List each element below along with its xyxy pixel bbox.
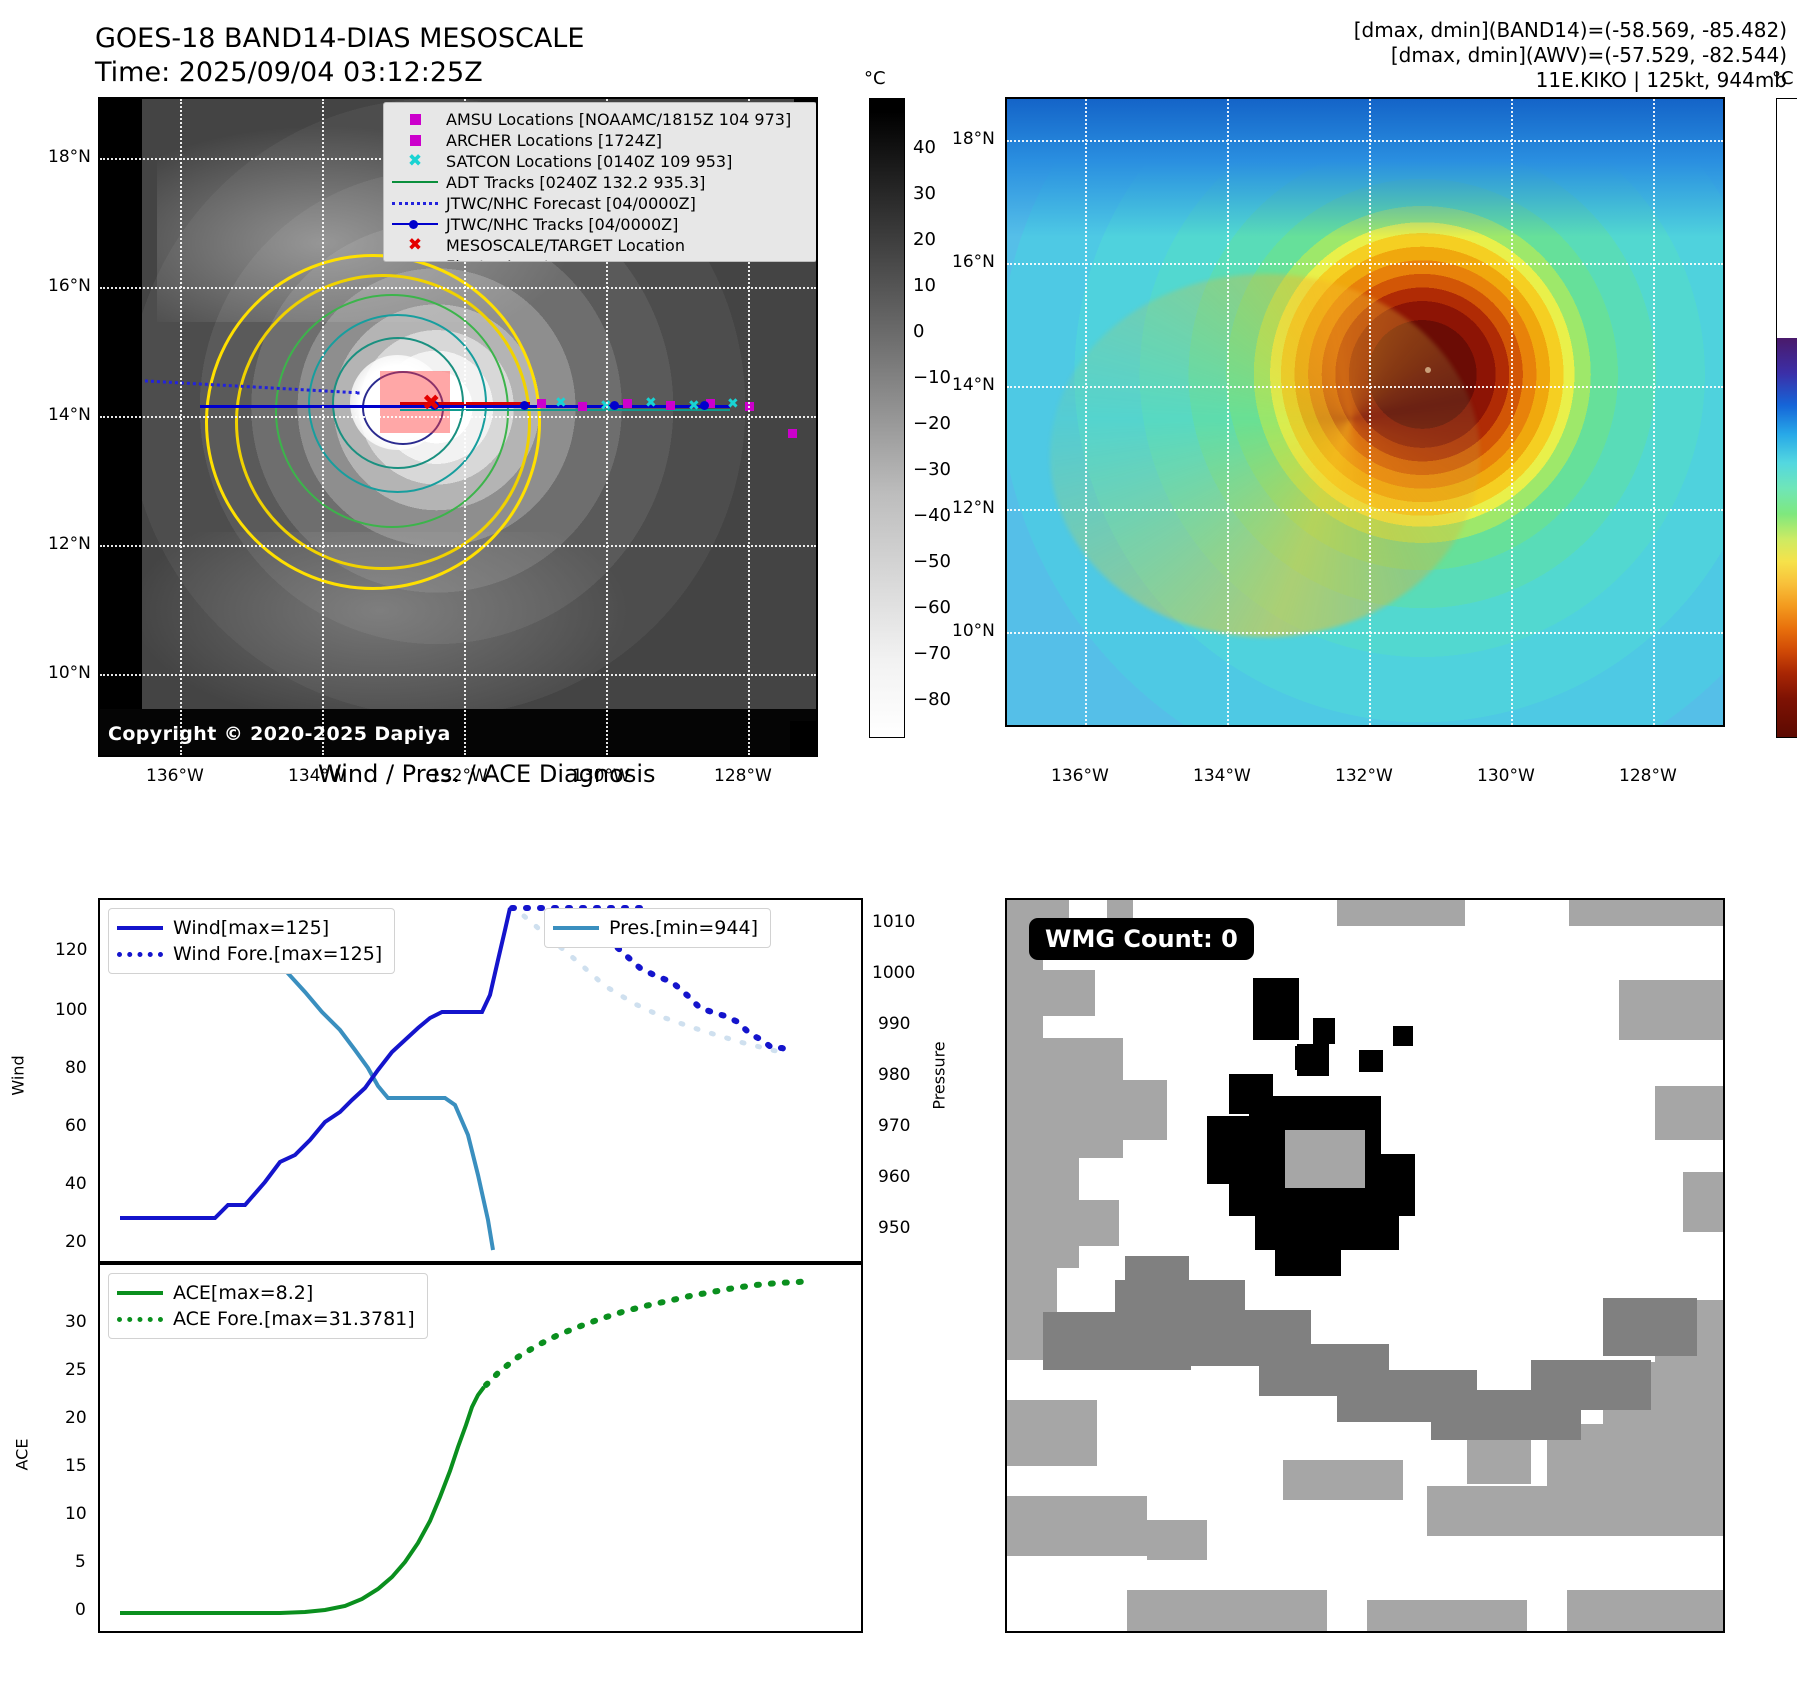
latitude-gridline <box>1007 140 1723 142</box>
amsu-location-outlier-marker <box>788 429 797 438</box>
latitude-gridline <box>1007 632 1723 634</box>
amsu-location-marker <box>623 399 632 408</box>
panel1-colorbar-tick: 10 <box>913 275 936 296</box>
wmg-grey-region <box>1007 948 1043 1038</box>
legend-label: AMSU Locations [NOAAMC/1815Z 104 973] <box>446 110 791 129</box>
longitude-gridline <box>1369 99 1371 725</box>
wind-ytick: 120 <box>55 940 87 960</box>
satcon-location-marker: ✖ <box>688 401 699 412</box>
wmg-grey-region <box>1043 970 1095 1016</box>
panel1-colorbar-tick: −50 <box>913 551 951 572</box>
jtwc-track-point <box>610 401 619 410</box>
ace-ytick: 5 <box>75 1552 86 1572</box>
jtwc-track-point <box>520 401 529 410</box>
legend-item-jtwc-forecast: JTWC/NHC Forecast [04/0000Z] <box>384 193 816 213</box>
map-edge-mask-bottomright <box>790 721 816 755</box>
panel2-xtick-132W: 132°W <box>1335 766 1393 786</box>
wind-ytick: 80 <box>65 1058 87 1078</box>
panel2-header-line2: [dmax, dmin](AWV)=(-57.529, -82.544) <box>1391 43 1787 67</box>
panel1-ytick-16N: 16°N <box>48 276 91 296</box>
legend-item-satcon: ✖ SATCON Locations [0140Z 109 953] <box>384 151 816 171</box>
panel1-colorbar-title: °C <box>864 68 886 89</box>
ace-chart[interactable]: ACE[max=8.2] ACE Fore.[max=31.3781] <box>98 1263 863 1633</box>
wind-pressure-chart[interactable]: Wind[max=125] Wind Fore.[max=125] Pres.[… <box>98 898 863 1263</box>
longitude-gridline <box>180 99 182 755</box>
red-x-icon: ✖ <box>384 240 446 251</box>
panel2-header-line1: [dmax, dmin](BAND14)=(-58.569, -85.482) <box>1354 18 1787 42</box>
wmg-black-region <box>1313 1018 1335 1044</box>
wmg-dark-grey-region <box>1531 1360 1651 1410</box>
latitude-gridline <box>100 545 816 547</box>
legend-item-wind: Wind[max=125] <box>117 915 382 941</box>
legend-label: SATCON Locations [0140Z 109 953] <box>446 152 732 171</box>
legend-label: JTWC/NHC Forecast [04/0000Z] <box>446 194 696 213</box>
panel2-colorbar-title: °C <box>1772 68 1794 89</box>
amsu-location-marker <box>537 399 546 408</box>
panel1-colorbar-tick: 20 <box>913 229 936 250</box>
mesoscale-target-marker: ✖ <box>422 391 440 416</box>
legend-item-archer: ARCHER Locations [1724Z] <box>384 130 816 150</box>
panel3-title: Wind / Pres. / ACE Diagnosis <box>318 760 656 788</box>
panel1-colorbar-tick: −20 <box>913 413 951 434</box>
wmg-grey-region <box>1007 1158 1079 1268</box>
wmg-black-region <box>1253 978 1299 1040</box>
wmg-grey-region <box>1683 1172 1723 1232</box>
cold-top-overlay <box>1007 99 1723 237</box>
wmg-grey-region <box>1007 1038 1123 1158</box>
copyright-notice: Copyright © 2020-2025 Dapiya <box>108 723 451 745</box>
blue-line-dot-icon <box>384 223 446 225</box>
panel2-header: [dmax, dmin](BAND14)=(-58.569, -85.482) … <box>1354 18 1787 93</box>
wind-ytick: 20 <box>65 1232 87 1252</box>
panel1-colorbar-tick: −70 <box>913 643 951 664</box>
longitude-gridline <box>1227 99 1229 725</box>
jtwc-track-point <box>700 401 709 410</box>
wmg-grey-region <box>1337 900 1465 926</box>
panel2-xtick-128W: 128°W <box>1619 766 1677 786</box>
panel2-ytick-18N: 18°N <box>952 129 995 149</box>
panel2-ytick-14N: 14°N <box>952 375 995 395</box>
ace-legend[interactable]: ACE[max=8.2] ACE Fore.[max=31.3781] <box>108 1273 428 1339</box>
wmg-grey-region <box>1569 900 1723 926</box>
longitude-gridline <box>322 99 324 755</box>
pressure-ytick: 950 <box>878 1218 910 1238</box>
pressure-ytick: 1010 <box>872 912 915 932</box>
panel2-xtick-130W: 130°W <box>1477 766 1535 786</box>
wmg-grey-region <box>1655 1086 1723 1140</box>
panel2-ytick-10N: 10°N <box>952 621 995 641</box>
panel1-ytick-14N: 14°N <box>48 405 91 425</box>
ace-ytick: 10 <box>65 1504 87 1524</box>
latitude-gridline <box>1007 386 1723 388</box>
eye-center-dot <box>1425 367 1431 373</box>
legend-label: JTWC/NHC Tracks [04/0000Z] <box>446 215 678 234</box>
panel1-xtick-136W: 136°W <box>146 766 204 786</box>
enhanced-ir-awv-map[interactable] <box>1005 97 1725 727</box>
legend-item-floater-locater: Floater Locater <box>384 256 816 262</box>
panel1-colorbar-gradient <box>869 98 905 738</box>
spiral-band-overlay <box>1050 274 1480 637</box>
panel1-colorbar-tick: −80 <box>913 689 951 710</box>
green-dotted-line-icon <box>117 1317 173 1322</box>
cyan-x-icon: ✖ <box>384 156 446 167</box>
wmg-black-region <box>1359 1050 1383 1072</box>
wmg-dark-grey-region <box>1125 1256 1189 1290</box>
blue-line-icon <box>117 926 173 930</box>
goes-band14-map[interactable]: ✖ ✖ ✖ ✖ ✖ ✖ AMSU Locations [NOAAMC/1815Z… <box>98 97 818 757</box>
panel2-ytick-12N: 12°N <box>952 498 995 518</box>
wmg-black-region <box>1275 1238 1341 1276</box>
longitude-gridline <box>1653 99 1655 725</box>
longitude-gridline <box>1085 99 1087 725</box>
legend-label: ARCHER Locations [1724Z] <box>446 131 662 150</box>
wind-legend[interactable]: Wind[max=125] Wind Fore.[max=125] <box>108 908 395 974</box>
panel2-ytick-16N: 16°N <box>952 252 995 272</box>
panel1-ytick-18N: 18°N <box>48 147 91 167</box>
panel1-colorbar-tick: −40 <box>913 505 951 526</box>
legend-item-ace: ACE[max=8.2] <box>117 1280 415 1306</box>
panel1-colorbar-tick: −10 <box>913 367 951 388</box>
map-edge-mask-left <box>100 99 142 755</box>
latitude-gridline <box>100 287 816 289</box>
wmg-grey-region <box>1427 1486 1723 1536</box>
legend-item-jtwc-tracks: JTWC/NHC Tracks [04/0000Z] <box>384 214 816 234</box>
ace-series-line <box>120 1387 484 1613</box>
wmg-mask-panel[interactable]: WMG Count: 0 <box>1005 898 1725 1633</box>
archer-location-marker <box>578 402 587 411</box>
satcon-location-marker: ✖ <box>727 399 738 410</box>
pressure-legend[interactable]: Pres.[min=944] <box>544 908 771 948</box>
panel1-colorbar-tick: 0 <box>913 321 924 342</box>
wmg-grey-region <box>1367 1600 1527 1631</box>
wmg-dark-grey-region <box>1603 1298 1697 1356</box>
wmg-grey-region <box>1283 1460 1403 1500</box>
wmg-grey-region <box>1007 1400 1097 1466</box>
legend-item-adt-tracks: ADT Tracks [0240Z 132.2 935.3] <box>384 172 816 192</box>
wmg-count-badge: WMG Count: 0 <box>1029 918 1254 960</box>
legend-label: MESOSCALE/TARGET Location <box>446 236 685 255</box>
magenta-square-icon <box>384 135 446 146</box>
pressure-ytick: 960 <box>878 1167 910 1187</box>
latitude-gridline <box>1007 263 1723 265</box>
legend-label: Wind[max=125] <box>173 917 329 939</box>
wmg-black-region <box>1297 1044 1329 1076</box>
panel1-xtick-128W: 128°W <box>714 766 772 786</box>
panel1-title-line2: Time: 2025/09/04 03:12:25Z <box>95 57 483 88</box>
wmg-grey-region <box>1079 1200 1119 1246</box>
pressure-ytick: 1000 <box>872 963 915 983</box>
wind-ytick: 100 <box>55 1000 87 1020</box>
blue-dotted-line-icon <box>117 952 173 957</box>
legend-label: ACE[max=8.2] <box>173 1282 313 1304</box>
wind-ytick: 60 <box>65 1116 87 1136</box>
legend-item-wind-forecast: Wind Fore.[max=125] <box>117 941 382 967</box>
panel1-ytick-10N: 10°N <box>48 663 91 683</box>
panel1-title: GOES-18 BAND14-DIAS MESOSCALE Time: 2025… <box>95 22 584 90</box>
wmg-grey-region <box>1567 1590 1723 1631</box>
legend-item-amsu: AMSU Locations [NOAAMC/1815Z 104 973] <box>384 109 816 129</box>
longitude-gridline <box>1511 99 1513 725</box>
green-line-icon <box>117 1291 173 1295</box>
satcon-location-marker: ✖ <box>555 398 566 409</box>
pressure-ytick: 980 <box>878 1065 910 1085</box>
ace-ytick: 0 <box>75 1600 86 1620</box>
wmg-grey-region <box>1147 1520 1207 1560</box>
ace-ytick: 25 <box>65 1360 87 1380</box>
ace-ytick: 30 <box>65 1312 87 1332</box>
ace-ytick: 15 <box>65 1456 87 1476</box>
legend-item-ace-forecast: ACE Fore.[max=31.3781] <box>117 1306 415 1332</box>
wind-axis-label: Wind <box>9 1055 28 1095</box>
latitude-gridline <box>100 674 816 676</box>
legend-item-mesoscale-target: ✖ MESOSCALE/TARGET Location <box>384 235 816 255</box>
ace-ytick: 20 <box>65 1408 87 1428</box>
green-line-icon <box>384 181 446 183</box>
panel2-xtick-136W: 136°W <box>1051 766 1109 786</box>
wmg-grey-region <box>1007 1496 1147 1556</box>
magenta-square-icon <box>384 114 446 125</box>
panel2-header-line3: 11E.KIKO | 125kt, 944mb <box>1536 68 1787 92</box>
panel1-title-line1: GOES-18 BAND14-DIAS MESOSCALE <box>95 23 584 54</box>
satcon-location-marker: ✖ <box>645 398 656 409</box>
panel2-xtick-134W: 134°W <box>1193 766 1251 786</box>
wmg-black-region <box>1393 1026 1413 1046</box>
wmg-grey-region <box>1127 1590 1327 1631</box>
latitude-gridline <box>100 416 816 418</box>
wind-ytick: 40 <box>65 1174 87 1194</box>
ace-forecast-series-line <box>486 1281 812 1385</box>
archer-location-marker <box>666 401 675 410</box>
legend-label: ADT Tracks [0240Z 132.2 935.3] <box>446 173 705 192</box>
panel1-colorbar-tick: 30 <box>913 183 936 204</box>
pressure-ytick: 970 <box>878 1116 910 1136</box>
legend-label: Pres.[min=944] <box>609 917 758 939</box>
pressure-ytick: 990 <box>878 1014 910 1034</box>
steelblue-line-icon <box>553 926 609 930</box>
wmg-grey-region <box>1619 980 1723 1040</box>
blue-dotted-line-icon <box>384 202 446 205</box>
legend-label: Floater Locater <box>446 257 567 263</box>
panel1-colorbar-tick: 40 <box>913 137 936 158</box>
wmg-grey-region <box>1467 1440 1531 1484</box>
latitude-gridline <box>1007 509 1723 511</box>
wmg-eye-grey-region <box>1285 1130 1365 1188</box>
ace-axis-label: ACE <box>12 1439 31 1471</box>
panel1-ytick-12N: 12°N <box>48 534 91 554</box>
legend-label: ACE Fore.[max=31.3781] <box>173 1308 415 1330</box>
panel1-legend[interactable]: AMSU Locations [NOAAMC/1815Z 104 973] AR… <box>383 102 816 262</box>
panel2-colorbar-gradient <box>1776 98 1797 738</box>
pressure-axis-label: Pressure <box>930 1041 949 1109</box>
panel1-colorbar-tick: −60 <box>913 597 951 618</box>
wmg-grey-region <box>1123 1080 1167 1140</box>
panel1-colorbar-tick: −30 <box>913 459 951 480</box>
legend-item-pressure: Pres.[min=944] <box>553 915 758 941</box>
legend-label: Wind Fore.[max=125] <box>173 943 382 965</box>
